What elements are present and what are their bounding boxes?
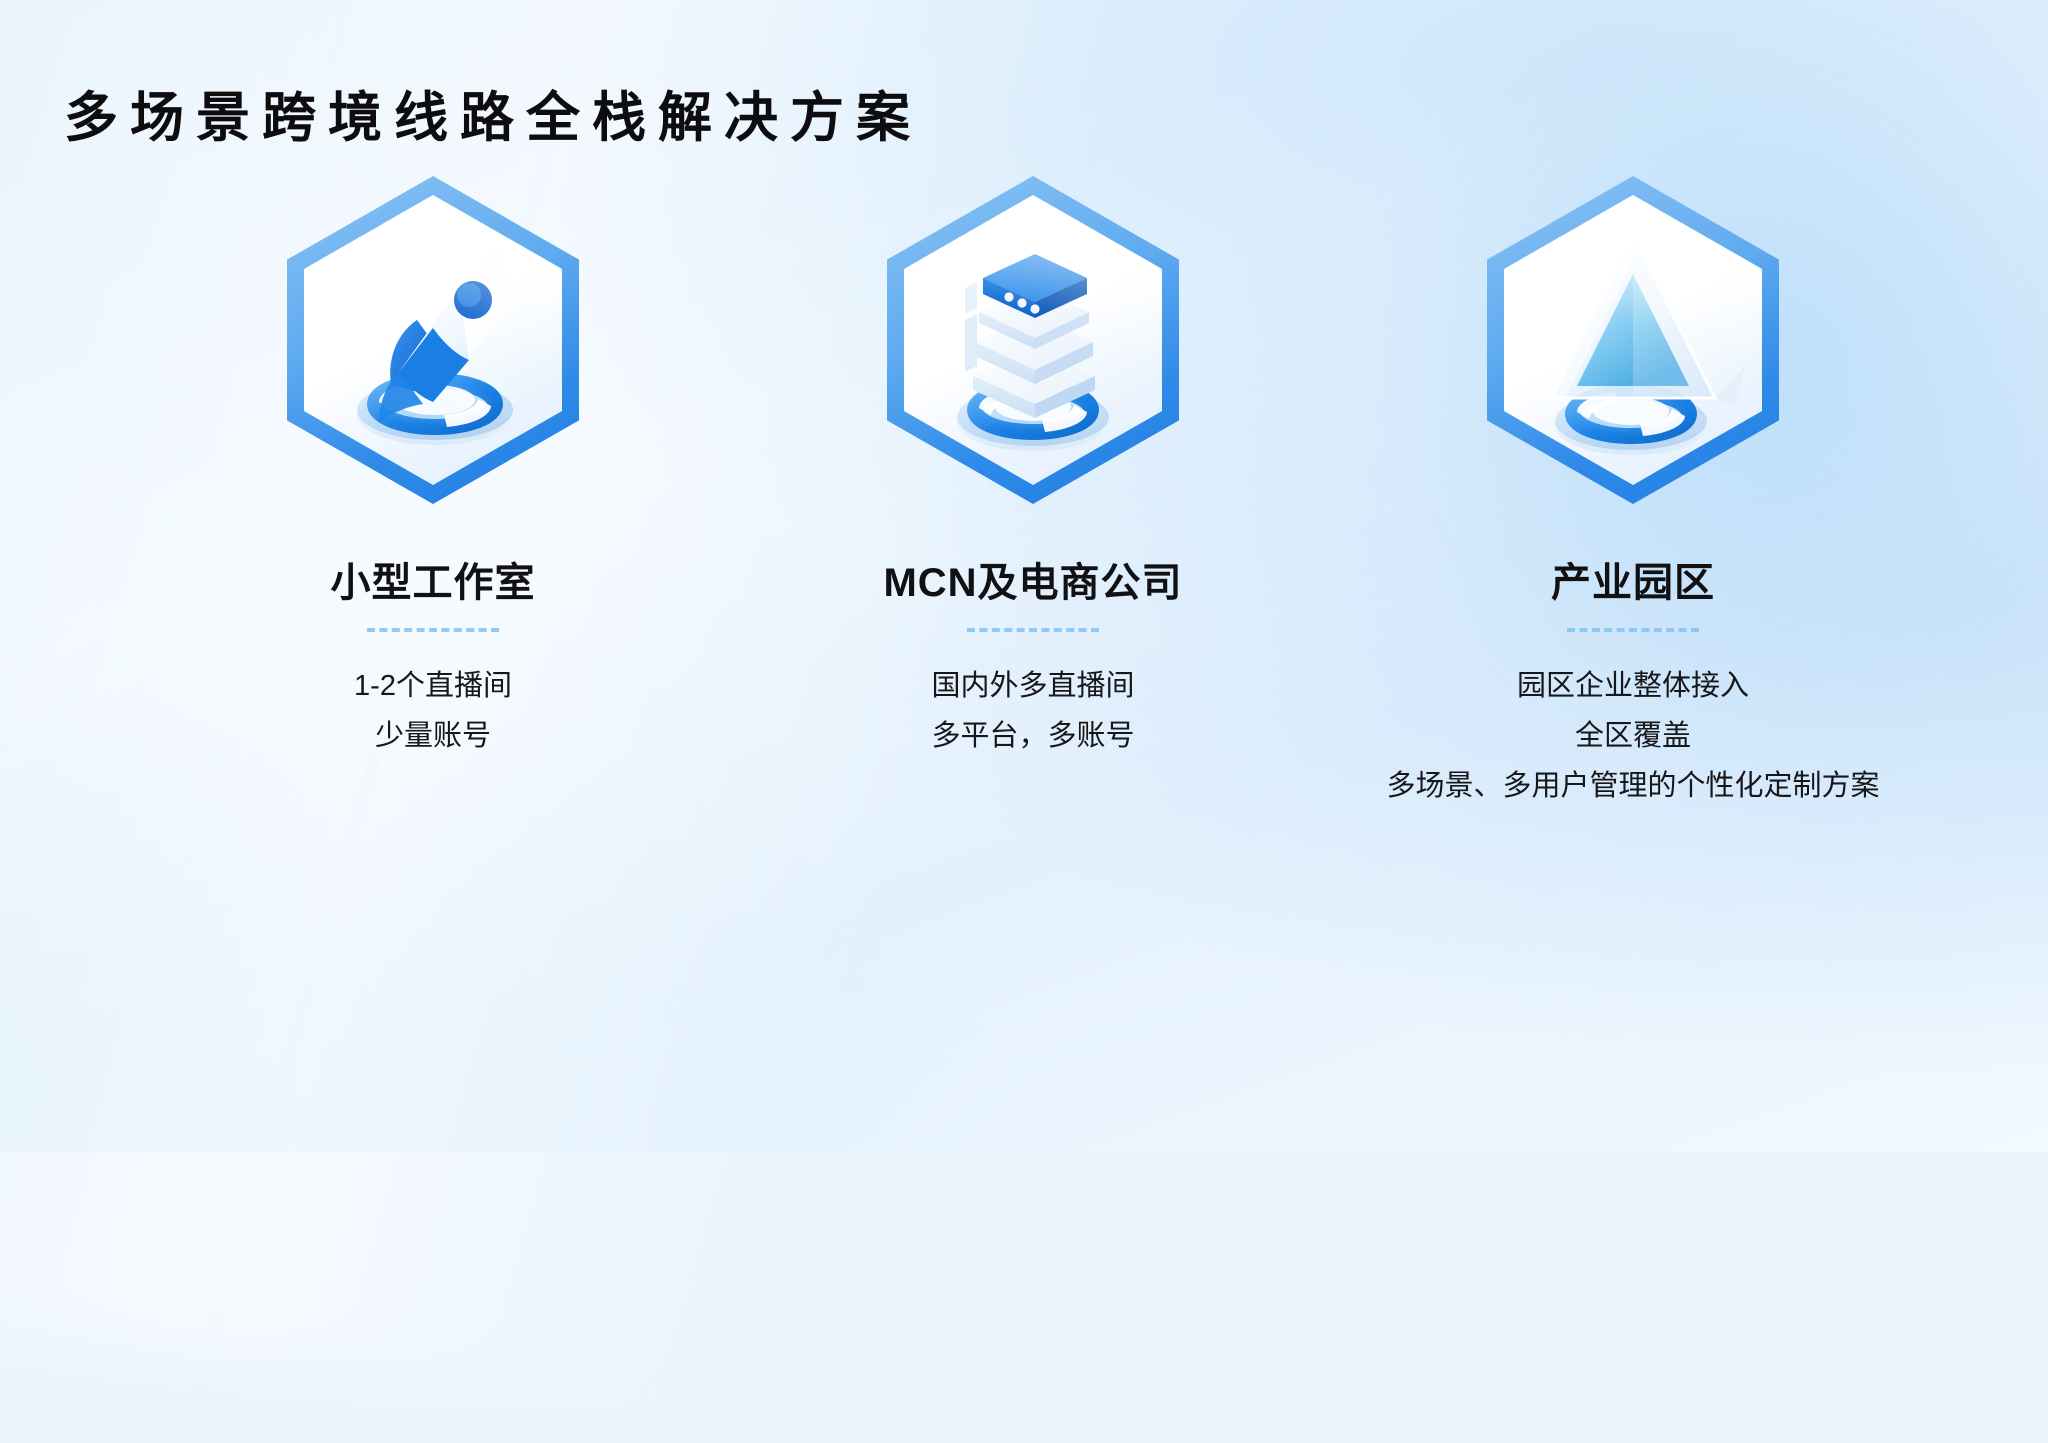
hexagon-badge <box>883 170 1183 510</box>
card-divider <box>367 628 499 632</box>
solution-card[interactable]: 小型工作室 1-2个直播间 少量账号 <box>133 170 733 762</box>
card-body: 国内外多直播间 多平台，多账号 <box>931 662 1134 762</box>
card-divider <box>1567 628 1699 632</box>
card-body: 1-2个直播间 少量账号 <box>354 662 512 762</box>
hexagon-badge <box>1483 170 1783 510</box>
hexagon-badge <box>283 170 583 510</box>
card-title: 产业园区 <box>1551 550 1715 608</box>
card-body-line: 国内外多直播间 <box>931 662 1134 712</box>
card-body-line: 多场景、多用户管理的个性化定制方案 <box>1386 762 1879 812</box>
card-title: MCN及电商公司 <box>883 550 1182 608</box>
card-body: 园区企业整体接入 全区覆盖 多场景、多用户管理的个性化定制方案 <box>1386 662 1879 812</box>
rocket-icon <box>283 170 583 510</box>
page-title: 多场景跨境线路全栈解决方案 <box>64 88 922 148</box>
solution-card[interactable]: 产业园区 园区企业整体接入 全区覆盖 多场景、多用户管理的个性化定制方案 <box>1333 170 1933 812</box>
pyramid-icon <box>1483 170 1783 510</box>
card-body-line: 园区企业整体接入 <box>1386 662 1879 712</box>
solution-card-list: 小型工作室 1-2个直播间 少量账号 <box>0 170 2048 812</box>
card-body-line: 全区覆盖 <box>1386 712 1879 762</box>
solution-card[interactable]: MCN及电商公司 国内外多直播间 多平台，多账号 <box>733 170 1333 762</box>
card-body-line: 少量账号 <box>354 712 512 762</box>
card-body-line: 多平台，多账号 <box>931 712 1134 762</box>
card-body-line: 1-2个直播间 <box>354 662 512 712</box>
card-divider <box>967 628 1099 632</box>
server-stack-icon <box>883 170 1183 510</box>
card-title: 小型工作室 <box>331 550 536 608</box>
